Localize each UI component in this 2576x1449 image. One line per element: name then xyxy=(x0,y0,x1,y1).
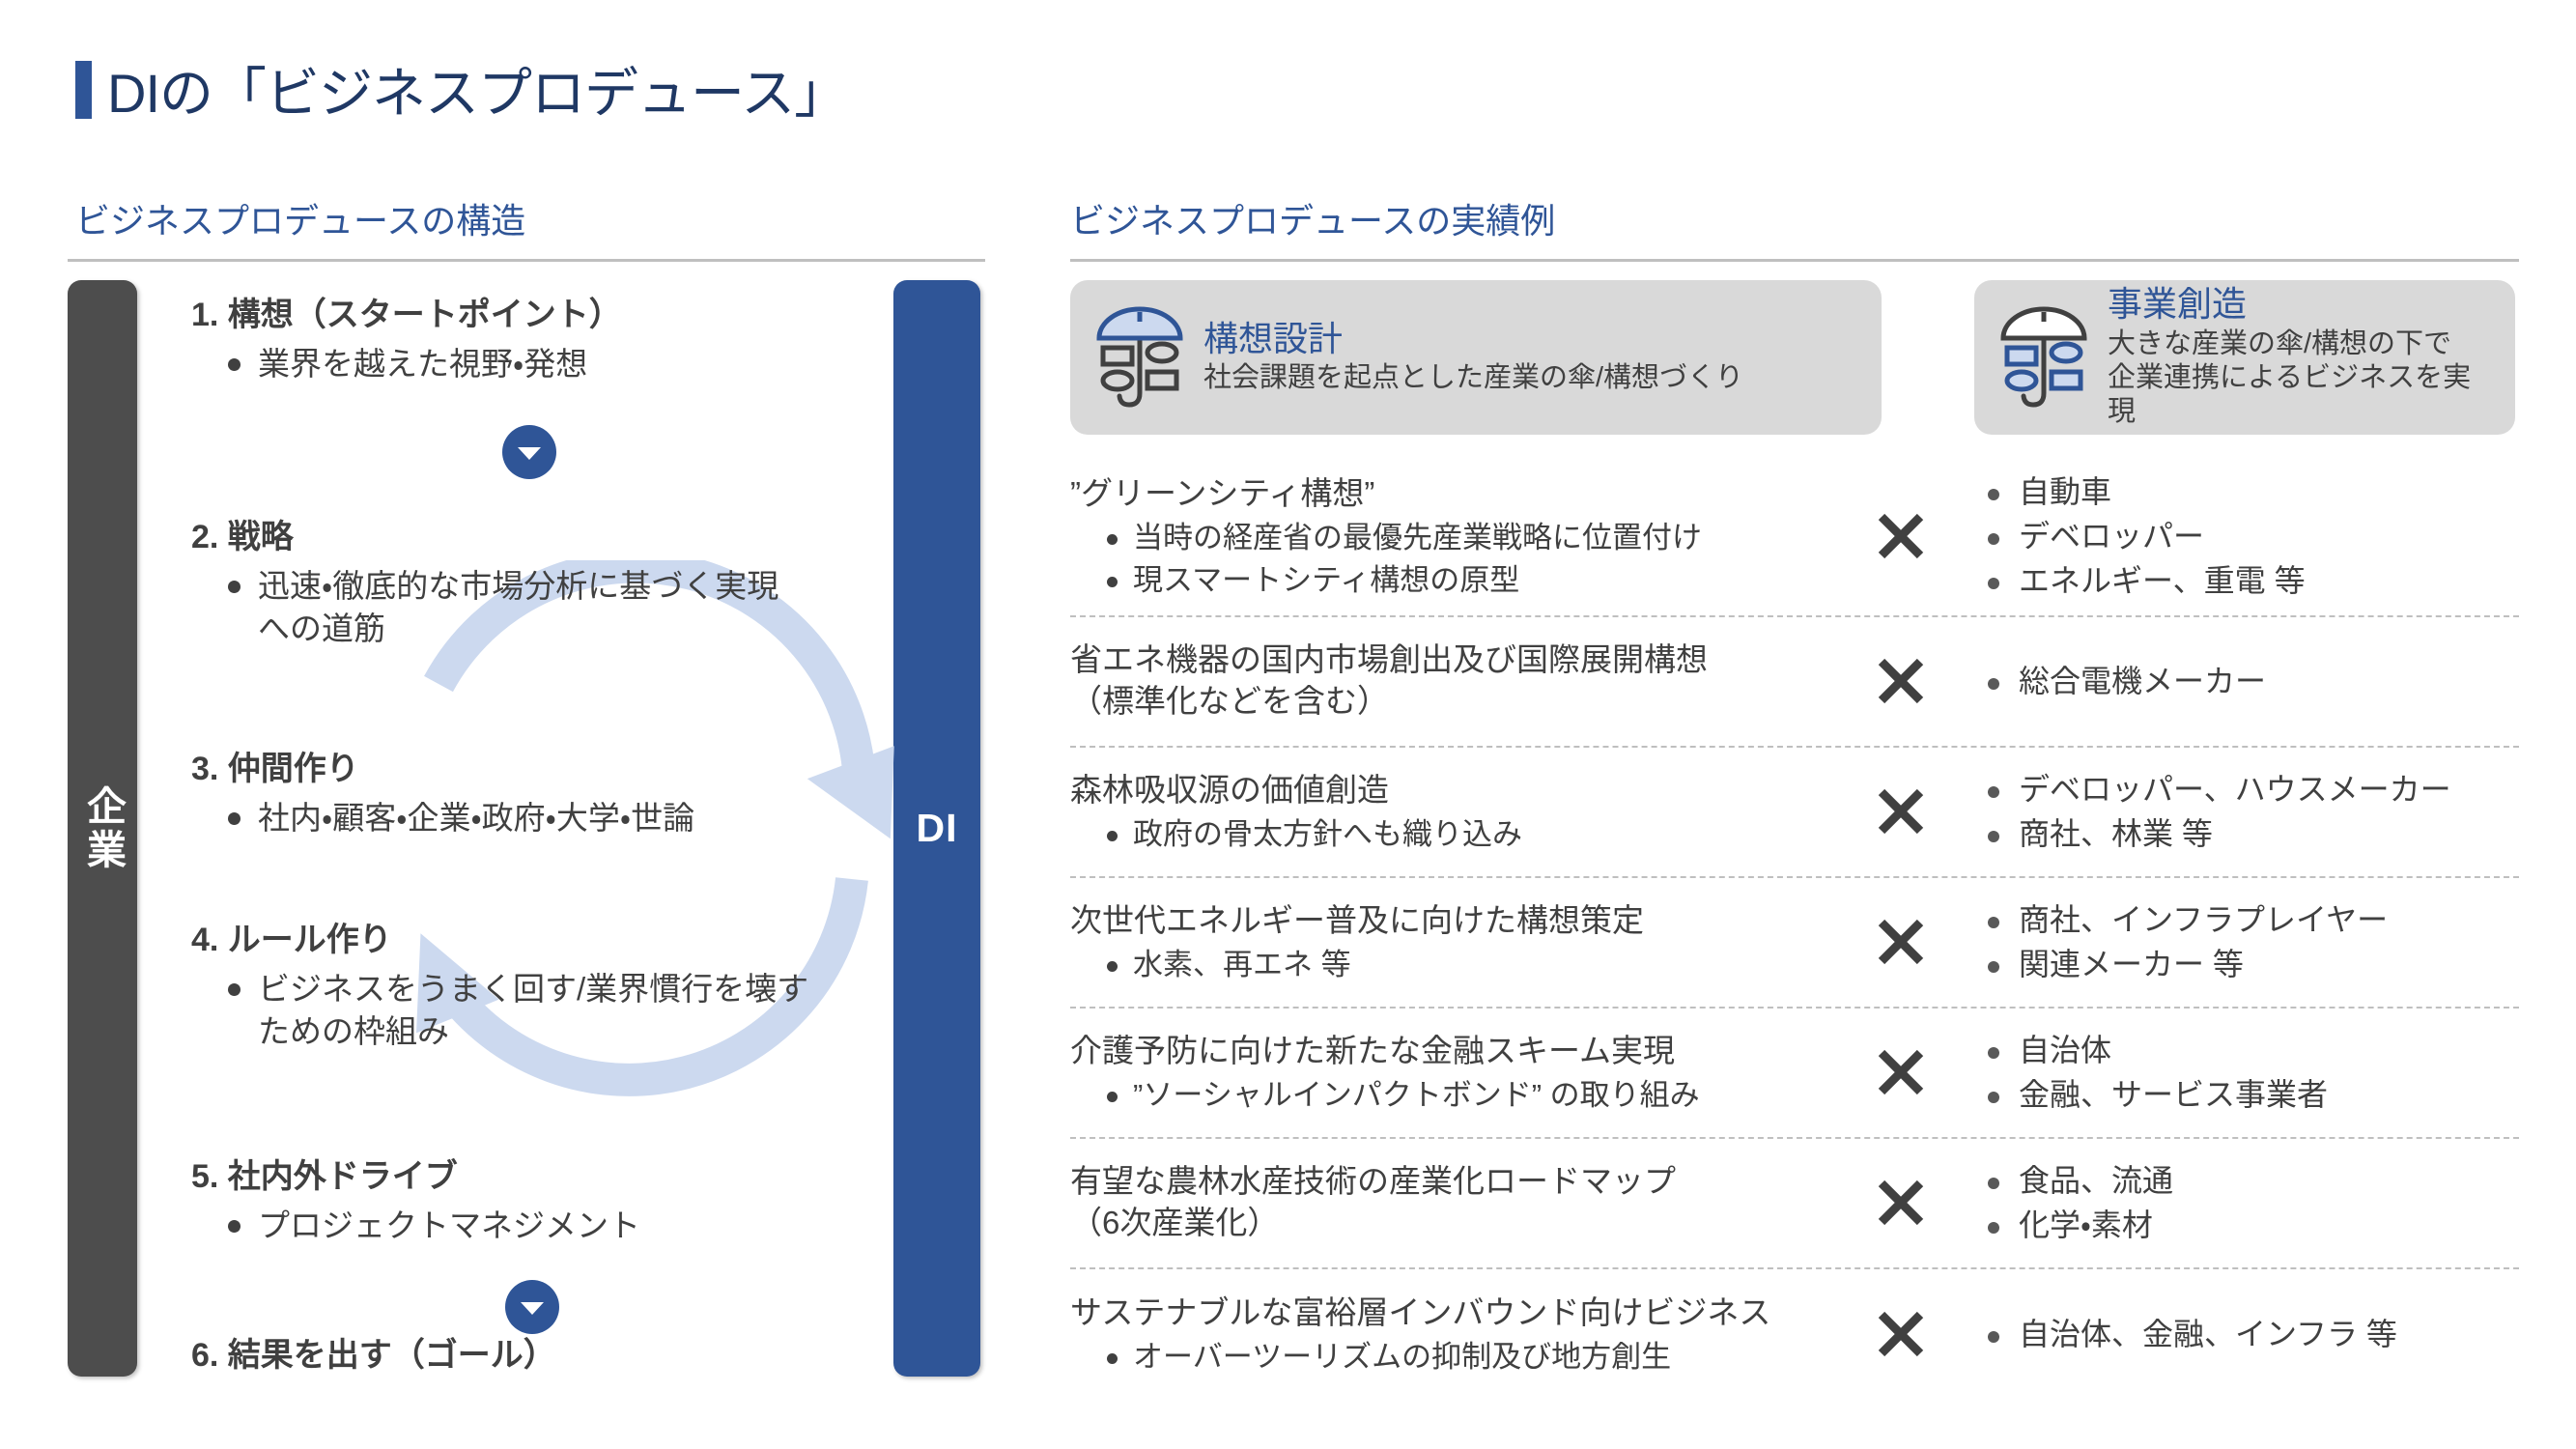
concept-bullet-text: ”ソーシャルインパクトボンド” の取り組み xyxy=(1133,1076,1700,1115)
cross-icon xyxy=(1843,785,1959,838)
slide-canvas: DIの「ビジネスプロデュース」 ビジネスプロデュースの構造 ビジネスプロデュース… xyxy=(0,0,2576,1449)
bullet-dot-icon xyxy=(228,581,241,593)
list-item: 総合電機メーカー xyxy=(1988,661,2519,701)
concept-title: 省エネ機器の国内市場創出及び国際展開構想 （標準化などを含む） xyxy=(1070,639,1843,723)
concept-cell: 省エネ機器の国内市場創出及び国際展開構想 （標準化などを含む） xyxy=(1070,626,1843,736)
category-card-business-creation[interactable]: 事業創造 大きな産業の傘/構想の下で 企業連携によるビジネスを実現 xyxy=(1974,280,2515,435)
players-cell: 商社、インフラプレイヤー関連メーカー 等 xyxy=(1959,886,2519,998)
step-item-1[interactable]: 1. 構想（スタートポイント） 業界を越えた視野・発想 xyxy=(191,288,867,385)
category-card-text: 構想設計 社会課題を起点とした産業の傘/構想づくり xyxy=(1203,320,1743,396)
bullet-dot-icon xyxy=(1988,1092,1999,1103)
step-bullet: 業界を越えた視野・発想 xyxy=(228,343,867,385)
di-bar-label: DI xyxy=(917,806,958,851)
list-item: 商社、インフラプレイヤー xyxy=(1988,899,2519,940)
category-card-concept-design[interactable]: 構想設計 社会課題を起点とした産業の傘/構想づくり xyxy=(1070,280,1882,435)
concept-cell: 次世代エネルギー普及に向けた構想策定水素、再エネ 等 xyxy=(1070,887,1843,998)
list-item: 化学・素材 xyxy=(1988,1205,2519,1245)
player-label: 化学・素材 xyxy=(2019,1205,2153,1245)
concept-title: サステナブルな富裕層インバウンド向けビジネス xyxy=(1070,1293,1843,1334)
step-bullet: 社内・顧客・企業・政府・大学・世論 xyxy=(228,797,867,839)
step-title: 6. 結果を出す（ゴール） xyxy=(191,1328,867,1376)
list-item: エネルギー、重電 等 xyxy=(1988,560,2519,601)
concept-cell: 森林吸収源の価値創造政府の骨太方針へも織り込み xyxy=(1070,756,1843,867)
company-bar: 企業 xyxy=(68,280,137,1377)
player-label: 商社、林業 等 xyxy=(2019,813,2213,854)
player-label: 商社、インフラプレイヤー xyxy=(2019,899,2388,940)
chevron-down-icon-1[interactable] xyxy=(502,425,556,479)
examples-panel: 構想設計 社会課題を起点とした産業の傘/構想づくり 事業創造 xyxy=(1070,280,2519,1400)
player-label: 自治体、金融、インフラ 等 xyxy=(2019,1314,2397,1354)
concept-title: 森林吸収源の価値創造 xyxy=(1070,770,1843,811)
category-subtitle: 社会課題を起点とした産業の傘/構想づくり xyxy=(1203,361,1743,395)
right-section-divider xyxy=(1070,259,2519,262)
concept-cell: 有望な農林水産技術の産業化ロードマップ （6次産業化） xyxy=(1070,1148,1843,1258)
list-item: デベロッパー、ハウスメーカー xyxy=(1988,769,2519,810)
title-accent-bar xyxy=(75,61,92,119)
player-label: 金融、サービス事業者 xyxy=(2019,1074,2328,1115)
page-title: DIの「ビジネスプロデュース」 xyxy=(75,50,847,128)
players-cell: 自動車デベロッパーエネルギー、重電 等 xyxy=(1959,458,2519,615)
step-title: 1. 構想（スタートポイント） xyxy=(191,288,867,335)
players-cell: 総合電機メーカー xyxy=(1959,647,2519,715)
table-row[interactable]: 次世代エネルギー普及に向けた構想策定水素、再エネ 等商社、インフラプレイヤー関連… xyxy=(1070,878,2519,1009)
concept-bullet-text: オーバーツーリズムの抑制及び地方創生 xyxy=(1133,1338,1671,1377)
players-cell: 自治体、金融、インフラ 等 xyxy=(1959,1300,2519,1368)
bullet-dot-icon xyxy=(1988,1222,1999,1234)
step-bullet-text: プロジェクトマネジメント xyxy=(258,1205,640,1247)
step-item-4[interactable]: 4. ルール作り ビジネスをうまく回す/業界慣行を壊す ための枠組み xyxy=(191,913,867,1052)
bullet-dot-icon xyxy=(228,983,241,996)
concept-bullet-text: 当時の経産省の最優先産業戦略に位置付け xyxy=(1133,519,1702,557)
di-bar: DI xyxy=(893,280,980,1377)
category-subtitle: 大きな産業の傘/構想の下で 企業連携によるビジネスを実現 xyxy=(2108,327,2492,430)
step-bullet: ビジネスをうまく回す/業界慣行を壊す ための枠組み xyxy=(228,968,867,1052)
bullet-dot-icon xyxy=(1107,961,1118,972)
player-label: デベロッパー xyxy=(2019,516,2204,556)
list-item: デベロッパー xyxy=(1988,516,2519,556)
concept-cell: サステナブルな富裕層インバウンド向けビジネスオーバーツーリズムの抑制及び地方創生 xyxy=(1070,1279,1843,1390)
bullet-dot-icon xyxy=(1988,917,1999,928)
examples-table: ”グリーンシティ構想”当時の経産省の最優先産業戦略に位置付け現スマートシティ構想… xyxy=(1070,458,2519,1400)
concept-title: 介護予防に向けた新たな金融スキーム実現 xyxy=(1070,1031,1843,1072)
category-card-text: 事業創造 大きな産業の傘/構想の下で 企業連携によるビジネスを実現 xyxy=(2108,285,2492,429)
player-label: 自動車 xyxy=(2019,471,2111,512)
table-row[interactable]: 森林吸収源の価値創造政府の骨太方針へも織り込みデベロッパー、ハウスメーカー商社、… xyxy=(1070,748,2519,878)
cross-icon xyxy=(1843,1177,1959,1229)
table-row[interactable]: ”グリーンシティ構想”当時の経産省の最優先産業戦略に位置付け現スマートシティ構想… xyxy=(1070,458,2519,617)
left-section-divider xyxy=(68,259,985,262)
concept-bullet: 当時の経産省の最優先産業戦略に位置付け xyxy=(1107,519,1843,557)
cross-icon xyxy=(1843,510,1959,562)
cross-icon xyxy=(1843,1046,1959,1098)
step-title: 5. 社内外ドライブ xyxy=(191,1150,867,1197)
umbrella-icon xyxy=(1997,304,2090,411)
bullet-dot-icon xyxy=(1107,1092,1118,1102)
category-card-row: 構想設計 社会課題を起点とした産業の傘/構想づくり 事業創造 xyxy=(1070,280,2519,435)
bullet-dot-icon xyxy=(1988,489,1999,500)
list-item: 自治体、金融、インフラ 等 xyxy=(1988,1314,2519,1354)
step-bullet: プロジェクトマネジメント xyxy=(228,1205,867,1247)
list-item: 金融、サービス事業者 xyxy=(1988,1074,2519,1115)
player-label: 食品、流通 xyxy=(2019,1160,2173,1201)
table-row[interactable]: 有望な農林水産技術の産業化ロードマップ （6次産業化）食品、流通化学・素材 xyxy=(1070,1139,2519,1269)
step-item-3[interactable]: 3. 仲間作り 社内・顧客・企業・政府・大学・世論 xyxy=(191,742,867,839)
concept-cell: ”グリーンシティ構想”当時の経産省の最優先産業戦略に位置付け現スマートシティ構想… xyxy=(1070,460,1843,613)
player-label: エネルギー、重電 等 xyxy=(2019,560,2306,601)
concept-title: 有望な農林水産技術の産業化ロードマップ （6次産業化） xyxy=(1070,1161,1843,1244)
table-row[interactable]: 介護予防に向けた新たな金融スキーム実現”ソーシャルインパクトボンド” の取り組み… xyxy=(1070,1009,2519,1139)
player-label: 自治体 xyxy=(2019,1030,2111,1070)
concept-bullet: 水素、再エネ 等 xyxy=(1107,946,1843,984)
step-item-5[interactable]: 5. 社内外ドライブ プロジェクトマネジメント xyxy=(191,1150,867,1247)
category-title: 事業創造 xyxy=(2108,285,2492,324)
players-cell: 食品、流通化学・素材 xyxy=(1959,1147,2519,1259)
step-bullet-text: 社内・顧客・企業・政府・大学・世論 xyxy=(258,797,694,839)
list-item: 自動車 xyxy=(1988,471,2519,512)
bullet-dot-icon xyxy=(1988,578,1999,589)
list-item: 食品、流通 xyxy=(1988,1160,2519,1201)
concept-bullet-text: 水素、再エネ 等 xyxy=(1133,946,1351,984)
step-bullet: 迅速・徹底的な市場分析に基づく実現 への道筋 xyxy=(228,565,867,649)
bullet-dot-icon xyxy=(228,358,241,371)
step-item-6[interactable]: 6. 結果を出す（ゴール） xyxy=(191,1328,867,1376)
step-title: 2. 戦略 xyxy=(191,510,867,557)
bullet-dot-icon xyxy=(1988,1047,1999,1059)
concept-bullet: ”ソーシャルインパクトボンド” の取り組み xyxy=(1107,1076,1843,1115)
bullet-dot-icon xyxy=(1988,533,1999,545)
bullet-dot-icon xyxy=(228,812,241,825)
bullet-dot-icon xyxy=(1988,1178,1999,1189)
list-item: 自治体 xyxy=(1988,1030,2519,1070)
right-section-heading: ビジネスプロデュースの実績例 xyxy=(1070,193,1555,243)
bullet-dot-icon xyxy=(228,1220,241,1233)
chevron-down-icon-2[interactable] xyxy=(505,1280,559,1334)
bullet-dot-icon xyxy=(1107,577,1118,587)
step-title: 3. 仲間作り xyxy=(191,742,867,789)
cross-icon xyxy=(1843,655,1959,707)
concept-cell: 介護予防に向けた新たな金融スキーム実現”ソーシャルインパクトボンド” の取り組み xyxy=(1070,1017,1843,1128)
bullet-dot-icon xyxy=(1107,831,1118,841)
structure-diagram: 企業 DI 1. 構想（スタートポイント） 業界を越えた視野・発想 2. 戦略 xyxy=(68,280,985,1381)
players-cell: 自治体金融、サービス事業者 xyxy=(1959,1016,2519,1128)
concept-bullet: 政府の骨太方針へも織り込み xyxy=(1107,815,1843,854)
bullet-dot-icon xyxy=(1988,1331,1999,1343)
bullet-dot-icon xyxy=(1988,678,1999,690)
list-item: 関連メーカー 等 xyxy=(1988,944,2519,984)
player-label: 関連メーカー 等 xyxy=(2019,944,2244,984)
concept-bullet: オーバーツーリズムの抑制及び地方創生 xyxy=(1107,1338,1843,1377)
title-text: DIの「ビジネスプロデュース」 xyxy=(107,50,847,128)
umbrella-icon xyxy=(1093,304,1186,411)
step-bullet-text: 迅速・徹底的な市場分析に基づく実現 への道筋 xyxy=(258,565,778,649)
company-bar-label: 企業 xyxy=(83,785,123,872)
list-item: 商社、林業 等 xyxy=(1988,813,2519,854)
bullet-dot-icon xyxy=(1107,1353,1118,1364)
bullet-dot-icon xyxy=(1988,786,1999,798)
table-row[interactable]: 省エネ機器の国内市場創出及び国際展開構想 （標準化などを含む）総合電機メーカー xyxy=(1070,617,2519,748)
table-row[interactable]: サステナブルな富裕層インバウンド向けビジネスオーバーツーリズムの抑制及び地方創生… xyxy=(1070,1269,2519,1400)
player-label: デベロッパー、ハウスメーカー xyxy=(2019,769,2451,810)
step-bullet-text: 業界を越えた視野・発想 xyxy=(258,343,587,385)
step-title: 4. ルール作り xyxy=(191,913,867,960)
cross-icon xyxy=(1843,1308,1959,1360)
concept-bullet-text: 政府の骨太方針へも織り込み xyxy=(1133,815,1522,854)
concept-title: ”グリーンシティ構想” xyxy=(1070,473,1843,515)
bullet-dot-icon xyxy=(1988,961,1999,973)
concept-title: 次世代エネルギー普及に向けた構想策定 xyxy=(1070,900,1843,942)
step-bullet-text: ビジネスをうまく回す/業界慣行を壊す ための枠組み xyxy=(258,968,808,1052)
cross-icon xyxy=(1843,916,1959,968)
bullet-dot-icon xyxy=(1107,534,1118,545)
players-cell: デベロッパー、ハウスメーカー商社、林業 等 xyxy=(1959,755,2519,867)
concept-bullet-text: 現スマートシティ構想の原型 xyxy=(1133,561,1519,600)
bullet-dot-icon xyxy=(1988,831,1999,842)
category-title: 構想設計 xyxy=(1203,320,1743,358)
step-item-2[interactable]: 2. 戦略 迅速・徹底的な市場分析に基づく実現 への道筋 xyxy=(191,510,867,649)
left-section-heading: ビジネスプロデュースの構造 xyxy=(75,193,525,243)
player-label: 総合電機メーカー xyxy=(2019,661,2266,701)
concept-bullet: 現スマートシティ構想の原型 xyxy=(1107,561,1843,600)
